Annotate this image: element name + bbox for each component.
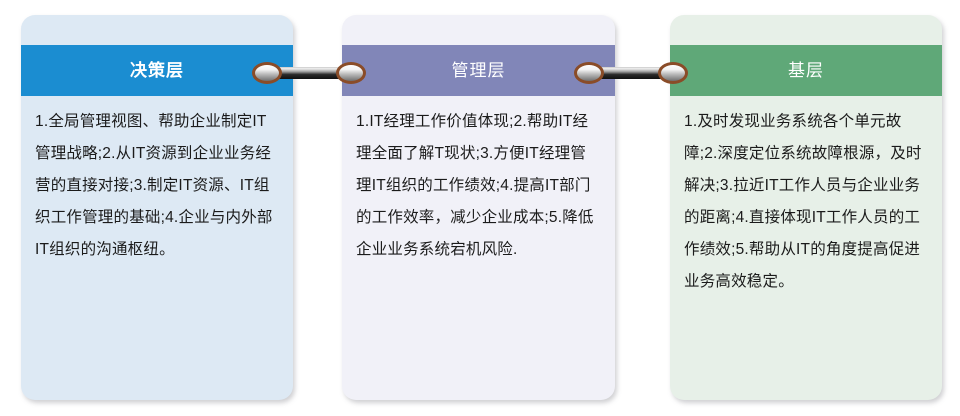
- card-base-layer: 基层 1.及时发现业务系统各个单元故障;2.深度定位系统故障根源，及时解决;3.…: [670, 15, 942, 400]
- connector-knob-left-icon: [574, 62, 604, 84]
- connector-management-to-base: [574, 62, 688, 84]
- card-management-body: 1.IT经理工作价值体现;2.帮助IT经理全面了解T现状;3.方便IT经理管理I…: [342, 96, 615, 400]
- card-decision-body-text: 1.全局管理视图、帮助企业制定IT管理战略;2.从IT资源到企业业务经营的直接对…: [35, 106, 279, 266]
- card-decision-body: 1.全局管理视图、帮助企业制定IT管理战略;2.从IT资源到企业业务经营的直接对…: [21, 96, 293, 400]
- diagram-canvas: 决策层 1.全局管理视图、帮助企业制定IT管理战略;2.从IT资源到企业业务经营…: [0, 0, 960, 416]
- card-base-body: 1.及时发现业务系统各个单元故障;2.深度定位系统故障根源，及时解决;3.拉近I…: [670, 96, 942, 400]
- card-management-body-text: 1.IT经理工作价值体现;2.帮助IT经理全面了解T现状;3.方便IT经理管理I…: [356, 106, 601, 266]
- connector-decision-to-management: [252, 62, 366, 84]
- card-base-header: 基层: [670, 45, 942, 96]
- connector-knob-left-icon: [252, 62, 282, 84]
- connector-knob-right-icon: [658, 62, 688, 84]
- card-base-body-text: 1.及时发现业务系统各个单元故障;2.深度定位系统故障根源，及时解决;3.拉近I…: [684, 106, 928, 298]
- card-base-header-title: 基层: [788, 62, 824, 79]
- connector-knob-right-icon: [336, 62, 366, 84]
- card-management-header-title: 管理层: [452, 62, 506, 79]
- card-decision-header-title: 决策层: [130, 62, 184, 79]
